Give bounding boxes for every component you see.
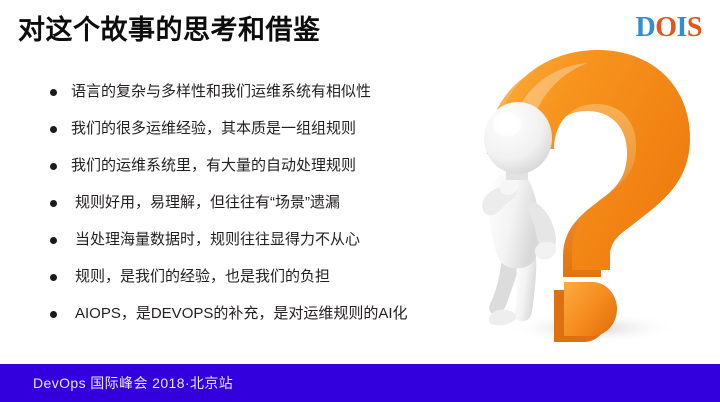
thinking-figure	[482, 102, 556, 325]
list-item-label: 我们的很多运维经验，其本质是一组组规则	[71, 117, 480, 141]
list-item-label: 规则好用，易理解，但往往有“场景”遗漏	[71, 191, 480, 215]
list-item-label: 我们的运维系统里，有大量的自动处理规则	[71, 154, 480, 178]
bullet-dot-icon	[50, 311, 57, 318]
list-item-label: AIOPS，是DEVOPS的补充，是对运维规则的AI化	[71, 302, 480, 326]
list-item: 语言的复杂与多样性和我们运维系统有相似性	[50, 80, 480, 117]
list-item-label: 规则，是我们的经验，也是我们的负担	[71, 265, 480, 289]
bullet-dot-icon	[50, 237, 57, 244]
figure-head	[484, 102, 552, 174]
list-item-label: 语言的复杂与多样性和我们运维系统有相似性	[71, 80, 480, 104]
bullet-dot-icon	[50, 163, 57, 170]
question-mark-dot	[564, 282, 617, 336]
page-title: 对这个故事的思考和借鉴	[18, 14, 321, 48]
bullet-dot-icon	[50, 200, 57, 207]
logo-letter-s: S	[687, 14, 702, 42]
logo-letter-o: O	[655, 14, 676, 42]
list-item: 当处理海量数据时，规则往往显得力不从心	[50, 228, 480, 265]
logo-letter-i: I	[677, 14, 687, 42]
logo-letter-d: D	[636, 14, 656, 42]
footer-label: DevOps 国际峰会 2018·北京站	[33, 373, 233, 393]
bullet-dot-icon	[50, 89, 57, 96]
question-mark-illustration	[476, 42, 720, 354]
slide-canvas: 对这个故事的思考和借鉴 DOIS 语言的复杂与多样性和我们运维系统有相似性 我们…	[0, 0, 720, 402]
bullet-list: 语言的复杂与多样性和我们运维系统有相似性 我们的很多运维经验，其本质是一组组规则…	[50, 80, 480, 339]
list-item: AIOPS，是DEVOPS的补充，是对运维规则的AI化	[50, 302, 480, 339]
bullet-dot-icon	[50, 126, 57, 133]
list-item: 规则，是我们的经验，也是我们的负担	[50, 265, 480, 302]
list-item: 我们的运维系统里，有大量的自动处理规则	[50, 154, 480, 191]
list-item: 我们的很多运维经验，其本质是一组组规则	[50, 117, 480, 154]
bullet-dot-icon	[50, 274, 57, 281]
footer-bar: DevOps 国际峰会 2018·北京站	[0, 364, 720, 402]
dois-logo: DOIS	[636, 14, 703, 42]
list-item: 规则好用，易理解，但往往有“场景”遗漏	[50, 191, 480, 228]
list-item-label: 当处理海量数据时，规则往往显得力不从心	[71, 228, 480, 252]
figure-head-highlight	[493, 112, 521, 136]
